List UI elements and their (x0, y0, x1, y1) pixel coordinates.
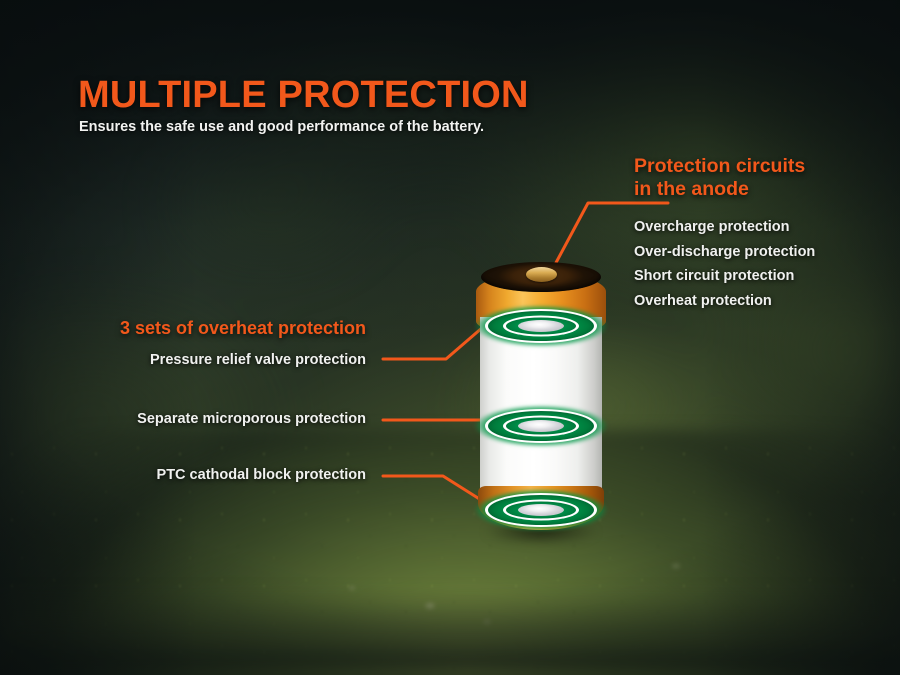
anode-callout-heading: Protection circuits in the anode (634, 155, 884, 201)
infographic-canvas: MULTIPLE PROTECTION Ensures the safe use… (0, 0, 900, 675)
overheat-protection-item: Pressure relief valve protection (150, 352, 366, 368)
anode-protection-item: Over-discharge protection (634, 240, 884, 265)
overheat-protection-item: Separate microporous protection (137, 411, 366, 427)
overheat-callout-heading: 3 sets of overheat protection (120, 318, 366, 339)
anode-protection-item: Overcharge protection (634, 215, 884, 240)
leader-line-pressure-relief (383, 321, 490, 359)
overheat-protection-item: PTC cathodal block protection (157, 467, 366, 483)
leader-line-ptc-block (383, 476, 489, 505)
cylindrical-battery-illustration (476, 262, 606, 537)
anode-callout-heading-line2: in the anode (634, 178, 884, 201)
anode-callout-heading-line1: Protection circuits (634, 155, 884, 178)
anode-protection-callout: Protection circuits in the anode Overcha… (634, 155, 884, 313)
anode-protection-item: Short circuit protection (634, 264, 884, 289)
anode-protection-list: Overcharge protection Over-discharge pro… (634, 215, 884, 313)
battery-label-body (480, 317, 602, 502)
battery-positive-terminal (526, 267, 557, 282)
anode-protection-item: Overheat protection (634, 289, 884, 314)
